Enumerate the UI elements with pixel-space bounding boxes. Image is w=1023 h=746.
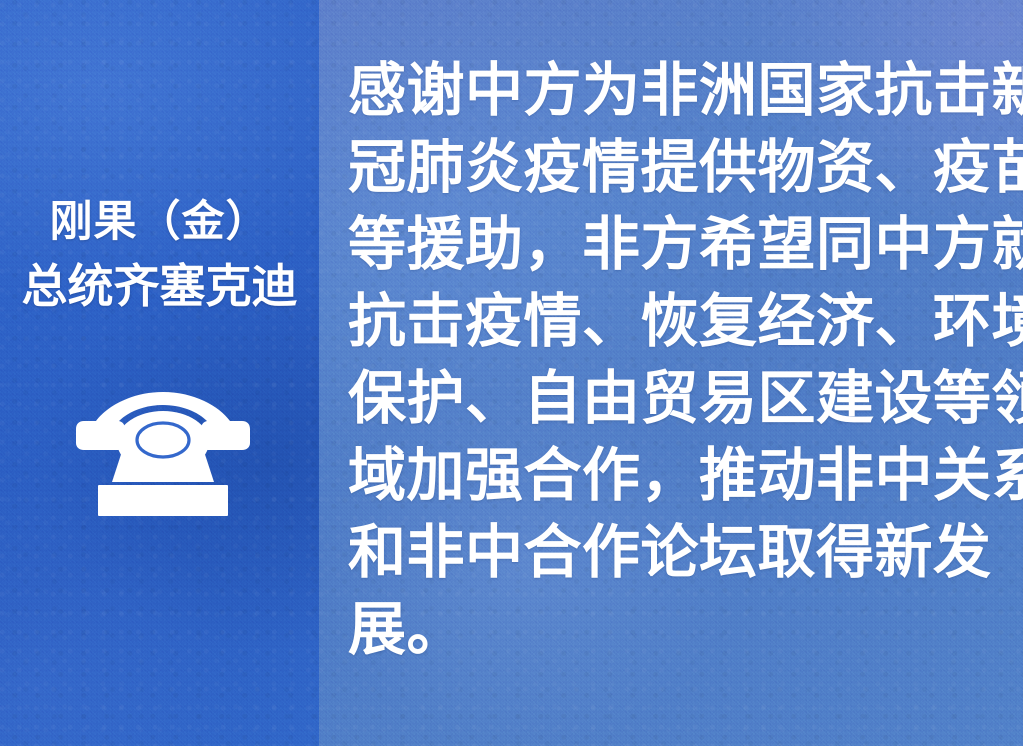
quote-line: 冠肺炎疫情提供物资、疫苗 <box>348 129 1008 206</box>
quote-line: 域加强合作，推动非中关系 <box>348 437 1008 514</box>
quote-card: 刚果（金） 总统齐塞克迪 感谢中方为非洲国家抗击新 冠肺炎疫情提供物资、疫苗 等… <box>0 0 1023 746</box>
paper-texture-overlay <box>0 0 319 746</box>
quote-text: 感谢中方为非洲国家抗击新 冠肺炎疫情提供物资、疫苗 等援助，非方希望同中方就 抗… <box>348 52 1008 668</box>
quote-line: 和非中合作论坛取得新发 <box>348 514 1008 591</box>
left-panel-background <box>0 0 319 746</box>
paper-speckle-overlay <box>0 0 319 746</box>
quote-line: 感谢中方为非洲国家抗击新 <box>348 52 1008 129</box>
telephone-icon <box>74 386 252 516</box>
speaker-attribution: 刚果（金） 总统齐塞克迪 <box>0 190 319 318</box>
speaker-title-name: 总统齐塞克迪 <box>0 254 319 318</box>
quote-line: 保护、自由贸易区建设等领 <box>348 360 1008 437</box>
quote-line: 抗击疫情、恢复经济、环境 <box>348 283 1008 360</box>
quote-line: 展。 <box>348 591 1008 668</box>
speaker-country: 刚果（金） <box>0 190 319 254</box>
quote-line: 等援助，非方希望同中方就 <box>348 206 1008 283</box>
